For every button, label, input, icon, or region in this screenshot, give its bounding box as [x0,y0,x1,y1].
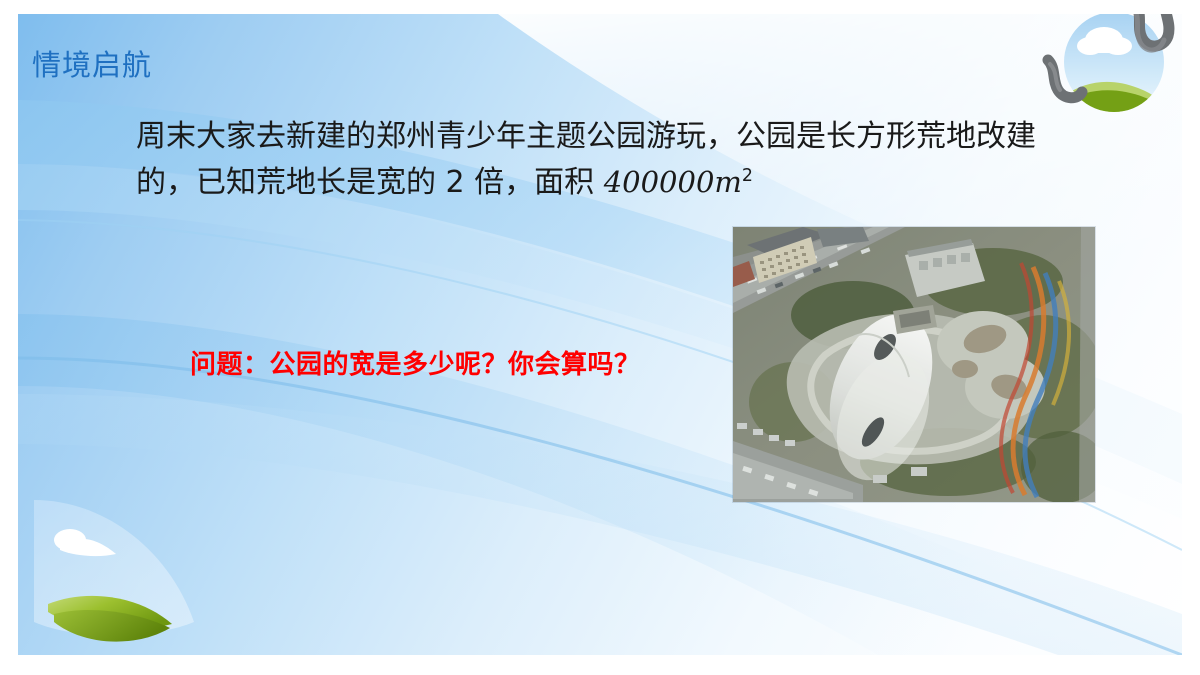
area-value: 400000 [604,165,715,199]
section-title: 情境启航 [32,48,152,83]
park-aerial-photo [733,227,1095,502]
slide-canvas: 情境启航 周末大家去新建的郑州青少年主题公园游玩，公园是长方形荒地改建的，已知荒… [18,14,1182,655]
question-prompt-text: 问题：公园的宽是多少呢？你会算吗？ [190,344,641,381]
area-unit: m [714,165,742,199]
cloud-leaf-logo-icon [1042,14,1182,118]
problem-statement-text: 周末大家去新建的郑州青少年主题公园游玩，公园是长方形荒地改建的，已知荒地长是宽的… [136,114,1076,205]
leaf-cloud-decoration-icon [18,492,210,655]
area-exponent: 2 [742,166,753,186]
problem-statement-prefix: 周末大家去新建的郑州青少年主题公园游玩，公园是长方形荒地改建的，已知荒地长是宽的… [136,119,1036,200]
park-aerial-photo-graphic [733,227,1095,502]
